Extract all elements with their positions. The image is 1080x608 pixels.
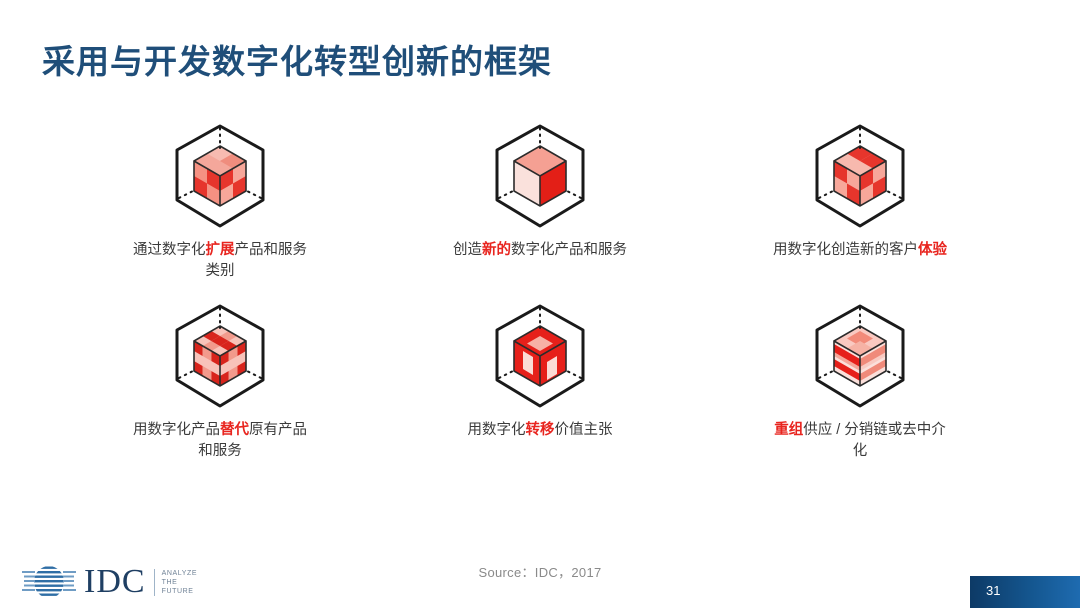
cube-hollow-frame-icon [487, 300, 593, 412]
idc-tagline-line1: ANALYZE [162, 569, 198, 578]
framework-item-caption: 重组供应 / 分销链或去中介化 [768, 420, 953, 462]
idc-wordmark: IDC [84, 565, 146, 599]
framework-item[interactable]: 重组供应 / 分销链或去中介化 [700, 300, 1020, 480]
framework-item[interactable]: 通过数字化扩展产品和服务类别 [60, 120, 380, 300]
cube-solid-faces-icon [487, 120, 593, 232]
cube-striped-bands-icon [807, 300, 913, 412]
idc-tagline-line3: FUTURE [162, 587, 198, 596]
framework-item-caption: 创造新的数字化产品和服务 [453, 240, 627, 261]
slide-canvas: 采用与开发数字化转型创新的框架 [0, 0, 1080, 608]
framework-item-caption: 用数字化创造新的客户体验 [773, 240, 947, 261]
framework-item[interactable]: 用数字化转移价值主张 [380, 300, 700, 480]
framework-item-caption: 通过数字化扩展产品和服务类别 [128, 240, 313, 282]
idc-logo: IDC ANALYZE THE FUTURE [22, 562, 197, 602]
framework-item[interactable]: 创造新的数字化产品和服务 [380, 120, 700, 300]
cube-subdivided-2x2-icon [167, 120, 273, 232]
cube-checkerboard-icon [807, 120, 913, 232]
framework-item[interactable]: 用数字化产品替代原有产品和服务 [60, 300, 380, 480]
page-number: 31 [986, 583, 1000, 598]
page-number-bar: 31 [970, 576, 1080, 608]
framework-item-caption: 用数字化产品替代原有产品和服务 [128, 420, 313, 462]
globe-icon [22, 562, 76, 602]
page-title: 采用与开发数字化转型创新的框架 [42, 35, 552, 83]
idc-tagline: ANALYZE THE FUTURE [154, 569, 198, 596]
idc-tagline-line2: THE [162, 578, 198, 587]
framework-item-caption: 用数字化转移价值主张 [468, 420, 613, 441]
cube-grid-3x3-icon [167, 300, 273, 412]
framework-item[interactable]: 用数字化创造新的客户体验 [700, 120, 1020, 300]
framework-grid: 通过数字化扩展产品和服务类别 [60, 120, 1020, 480]
